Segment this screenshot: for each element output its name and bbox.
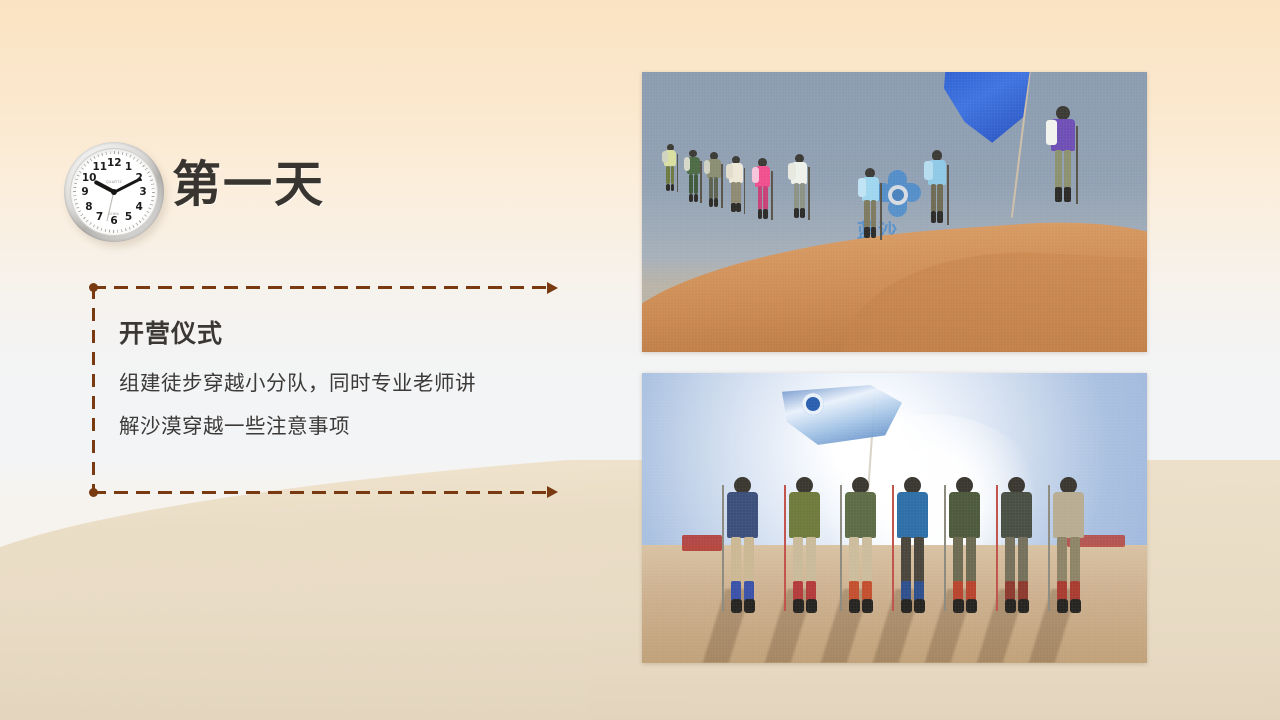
team-member-silhouette — [994, 477, 1040, 627]
clock-number-2: 2 — [132, 172, 146, 184]
photo-hiker — [858, 168, 884, 256]
clock-number-5: 5 — [122, 211, 136, 223]
team-flag-group-photo[interactable] — [642, 373, 1147, 663]
camp-tent-left — [682, 535, 722, 551]
team-member-silhouette — [782, 477, 828, 627]
clock-number-3: 3 — [136, 186, 150, 198]
team-member-silhouette — [1046, 477, 1092, 627]
photo-hiker — [662, 144, 679, 204]
slide-canvas: QUARTZ CHINA 121234567891011 第一天 开营仪式 组建… — [0, 0, 1280, 720]
clock-number-7: 7 — [93, 211, 107, 223]
bracket-left-line — [92, 286, 95, 494]
wall-clock-icon: QUARTZ CHINA 121234567891011 — [64, 142, 168, 248]
photo-hiker — [1046, 106, 1081, 227]
photo-hiker — [752, 158, 774, 235]
arrow-right-icon-bottom — [547, 486, 558, 498]
arrow-right-icon-top — [547, 282, 558, 294]
bracket-bottom-dot — [89, 488, 98, 497]
clock-center-pin — [111, 189, 117, 195]
clock-number-12: 12 — [107, 157, 121, 169]
section-body: 组建徒步穿越小分队，同时专业老师讲 解沙漠穿越一些注意事项 — [119, 362, 569, 448]
clock-number-6: 6 — [107, 215, 121, 227]
team-member-silhouette — [890, 477, 936, 627]
clock-number-11: 11 — [93, 161, 107, 173]
body-line-1: 组建徒步穿越小分队，同时专业老师讲 — [119, 362, 569, 405]
photo-hiker — [788, 154, 812, 235]
team-member-silhouette — [720, 477, 766, 627]
clock-dial: QUARTZ CHINA 121234567891011 — [76, 154, 152, 230]
clock-number-8: 8 — [82, 201, 96, 213]
photo-hiker — [726, 156, 747, 227]
bracket-top-dot — [89, 283, 98, 292]
clock-number-10: 10 — [82, 172, 96, 184]
clock-case: QUARTZ CHINA 121234567891011 — [64, 142, 164, 242]
clock-number-9: 9 — [78, 186, 92, 198]
desert-trek-line-photo[interactable]: 蓝沙 — [642, 72, 1147, 352]
body-line-2: 解沙漠穿越一些注意事项 — [119, 405, 569, 448]
banner-logo-icon — [802, 393, 824, 415]
photo-hiker — [684, 150, 703, 215]
bracket-top-line — [92, 286, 547, 289]
photo-hiker — [924, 150, 951, 242]
bracket-bottom-line — [92, 491, 547, 494]
team-member-silhouette — [838, 477, 884, 627]
page-title: 第一天 — [172, 160, 325, 209]
clock-brand-top: QUARTZ — [106, 180, 122, 184]
photo-hiker — [704, 152, 724, 221]
section-heading: 开营仪式 — [119, 314, 223, 350]
team-member-silhouette — [942, 477, 988, 627]
